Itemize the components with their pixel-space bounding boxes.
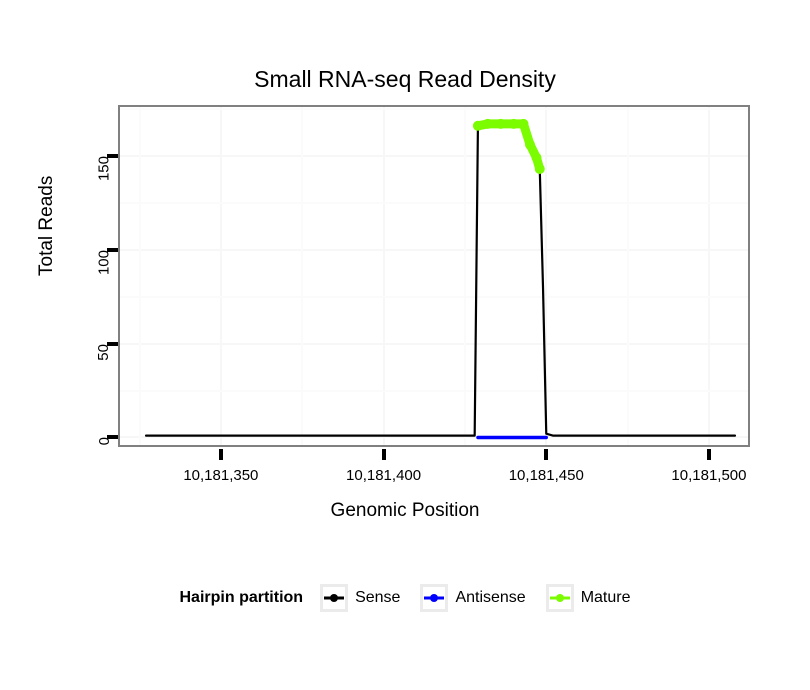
series-point-mature xyxy=(473,121,483,131)
legend-entry-mature[interactable]: Mature xyxy=(546,584,631,612)
legend-dot-swatch xyxy=(330,594,338,602)
legend-entry-sense[interactable]: Sense xyxy=(320,584,420,612)
series-point-mature xyxy=(518,119,528,129)
x-tick-mark xyxy=(219,449,223,460)
y-tick-label: 50 xyxy=(96,344,113,361)
series-point-mature xyxy=(532,153,542,163)
legend-key-glyph xyxy=(423,587,445,609)
legend-label: Sense xyxy=(355,589,400,607)
legend-key-glyph xyxy=(323,587,345,609)
data-layer xyxy=(120,107,748,445)
series-point-mature xyxy=(483,119,493,129)
x-tick-label: 10,181,400 xyxy=(346,467,421,484)
y-axis: 050100150 xyxy=(0,105,118,447)
x-axis-title: Genomic Position xyxy=(0,500,810,522)
x-tick-mark xyxy=(544,449,548,460)
legend-title: Hairpin partition xyxy=(180,589,304,607)
legend-key-sense xyxy=(320,584,348,612)
series-point-mature xyxy=(496,119,506,129)
legend-dot-swatch xyxy=(430,594,438,602)
legend-entry-antisense[interactable]: Antisense xyxy=(420,584,545,612)
chart-title: Small RNA-seq Read Density xyxy=(0,64,810,94)
legend-key-antisense xyxy=(420,584,448,612)
legend-dot-swatch xyxy=(556,594,564,602)
x-axis: 10,181,35010,181,40010,181,45010,181,500 xyxy=(0,447,810,507)
y-tick-label: 0 xyxy=(96,437,113,445)
legend-key-glyph xyxy=(549,587,571,609)
legend-label: Antisense xyxy=(455,589,525,607)
chart-legend: Hairpin partition SenseAntisenseMature xyxy=(0,580,810,616)
x-tick-mark xyxy=(707,449,711,460)
series-point-mature xyxy=(535,164,545,174)
x-tick-label: 10,181,350 xyxy=(183,467,258,484)
legend-label: Mature xyxy=(581,589,631,607)
chart-figure: Small RNA-seq Read Density Total Reads 0… xyxy=(0,0,810,690)
y-tick-label: 100 xyxy=(96,250,113,275)
series-point-mature xyxy=(525,140,535,150)
series-line-sense xyxy=(146,124,735,436)
x-tick-mark xyxy=(382,449,386,460)
series-point-mature xyxy=(509,119,519,129)
legend-key-mature xyxy=(546,584,574,612)
plot-panel xyxy=(118,105,750,447)
x-tick-label: 10,181,450 xyxy=(509,467,584,484)
x-tick-label: 10,181,500 xyxy=(671,467,746,484)
y-tick-label: 150 xyxy=(96,156,113,181)
